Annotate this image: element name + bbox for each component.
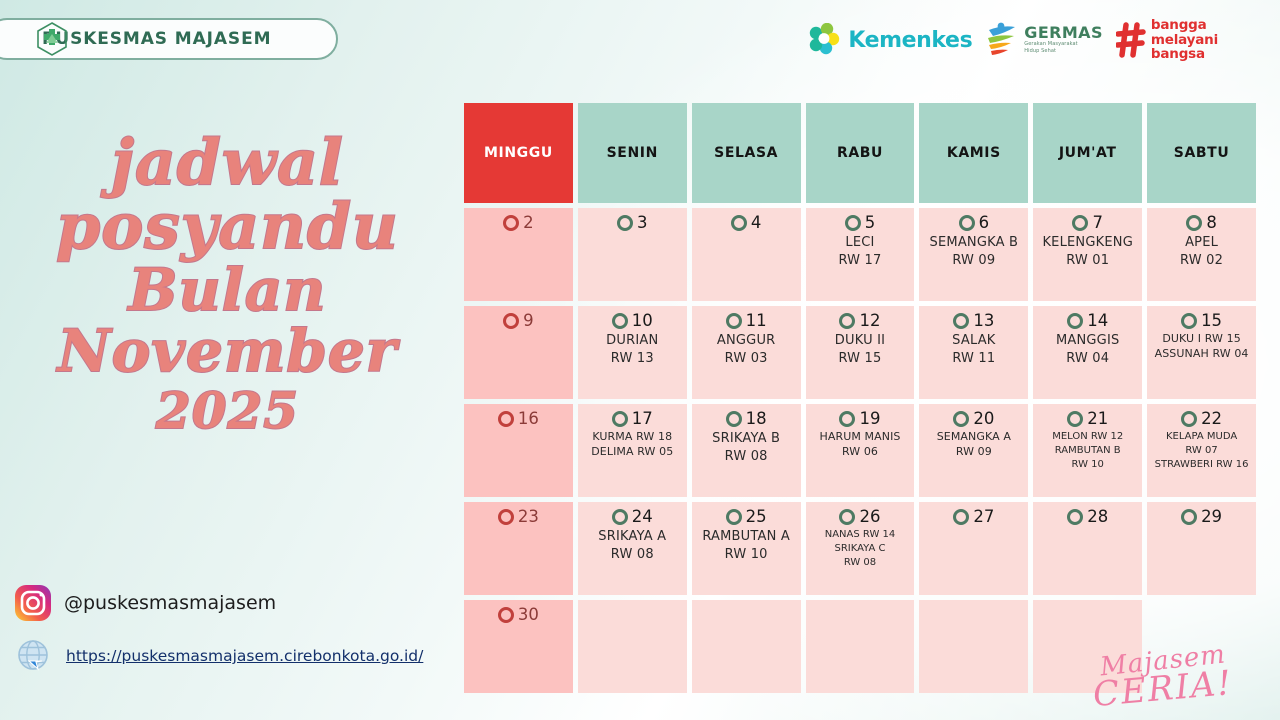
event-list: DUKU I RW 15ASSUNAH RW 04 — [1153, 332, 1250, 362]
day-number-row: 24 — [584, 509, 681, 526]
calendar-day-16[interactable]: 16 — [464, 404, 573, 497]
germas-title: GERMAS — [1024, 25, 1103, 41]
day-number-row: 21 — [1039, 411, 1136, 428]
event-line: SEMANGKA A — [937, 430, 1011, 445]
day-marker-ring-icon — [845, 215, 861, 231]
day-number-row: 2 — [470, 215, 567, 232]
bangga-line-2: melayani — [1151, 33, 1218, 48]
calendar-day-24[interactable]: 24SRIKAYA ARW 08 — [578, 502, 687, 595]
event-line: RW 01 — [1066, 252, 1109, 269]
day-number: 26 — [859, 509, 880, 526]
event-line: RW 07 — [1185, 444, 1217, 457]
day-number-row: 29 — [1153, 509, 1250, 526]
event-list: APELRW 02 — [1153, 234, 1250, 269]
title-line-5: 2025 — [0, 385, 455, 436]
day-number: 2 — [523, 215, 534, 232]
day-number-row: 7 — [1039, 215, 1136, 232]
event-line: RAMBUTAN B — [1055, 444, 1121, 457]
event-list: HARUM MANISRW 06 — [812, 430, 909, 460]
germas-subtitle-1: Gerakan Masyarakat — [1024, 41, 1103, 48]
instagram-handle[interactable]: @puskesmasmajasem — [64, 592, 276, 614]
calendar-day-12[interactable]: 12DUKU IIRW 15 — [806, 306, 915, 399]
calendar-day-14[interactable]: 14MANGGISRW 04 — [1033, 306, 1142, 399]
website-row[interactable]: https://puskesmasmajasem.cirebonkota.go.… — [14, 636, 464, 676]
event-list: DUKU IIRW 15 — [812, 332, 909, 367]
brand-name: PUSKESMAS MAJASEM — [42, 29, 271, 49]
day-number: 11 — [746, 313, 767, 330]
event-line: LECI — [845, 234, 874, 251]
day-number-row: 3 — [584, 215, 681, 232]
calendar-day-empty — [806, 600, 915, 693]
day-number: 10 — [632, 313, 653, 330]
event-list: SALAKRW 11 — [925, 332, 1022, 367]
calendar-day-30[interactable]: 30 — [464, 600, 573, 693]
bangga-text: bangga melayani bangsa — [1151, 18, 1218, 63]
calendar-day-empty — [692, 600, 801, 693]
day-marker-ring-icon — [726, 313, 742, 329]
day-marker-ring-icon — [839, 411, 855, 427]
event-line: DELIMA RW 05 — [591, 445, 673, 460]
day-number-row: 15 — [1153, 313, 1250, 330]
calendar-day-10[interactable]: 10DURIANRW 13 — [578, 306, 687, 399]
calendar-day-4[interactable]: 4 — [692, 208, 801, 301]
day-number: 3 — [637, 215, 648, 232]
event-line: ASSUNAH RW 04 — [1155, 347, 1249, 362]
day-number: 6 — [979, 215, 990, 232]
calendar-day-27[interactable]: 27 — [919, 502, 1028, 595]
contact-block: @puskesmasmajasem https://puskesmasmajas… — [14, 584, 464, 690]
day-number: 8 — [1206, 215, 1217, 232]
website-url[interactable]: https://puskesmasmajasem.cirebonkota.go.… — [66, 647, 423, 665]
day-number: 13 — [973, 313, 994, 330]
day-marker-ring-icon — [1181, 411, 1197, 427]
day-number-row: 4 — [698, 215, 795, 232]
day-number: 14 — [1087, 313, 1108, 330]
day-marker-ring-icon — [498, 607, 514, 623]
event-line: RW 02 — [1180, 252, 1223, 269]
calendar-header-selasa: SELASA — [692, 103, 801, 203]
instagram-icon[interactable] — [14, 584, 52, 622]
calendar-day-15[interactable]: 15DUKU I RW 15ASSUNAH RW 04 — [1147, 306, 1256, 399]
calendar-day-28[interactable]: 28 — [1033, 502, 1142, 595]
calendar-day-5[interactable]: 5LECIRW 17 — [806, 208, 915, 301]
calendar-day-26[interactable]: 26NANAS RW 14SRIKAYA CRW 08 — [806, 502, 915, 595]
event-line: DURIAN — [606, 332, 658, 349]
event-line: ANGGUR — [717, 332, 776, 349]
calendar-day-8[interactable]: 8APELRW 02 — [1147, 208, 1256, 301]
calendar-day-2[interactable]: 2 — [464, 208, 573, 301]
day-number-row: 17 — [584, 411, 681, 428]
day-number: 19 — [859, 411, 880, 428]
day-number-row: 11 — [698, 313, 795, 330]
day-marker-ring-icon — [498, 509, 514, 525]
top-bar: PUSKESMAS MAJASEM Kemenkes G — [0, 0, 1280, 86]
day-marker-ring-icon — [953, 509, 969, 525]
day-number-row: 28 — [1039, 509, 1136, 526]
title-line-4: November — [0, 322, 455, 381]
event-line: RW 06 — [842, 445, 878, 460]
day-number-row: 30 — [470, 607, 567, 624]
day-marker-ring-icon — [726, 411, 742, 427]
event-line: RW 08 — [725, 448, 768, 465]
day-marker-ring-icon — [1072, 215, 1088, 231]
germas-logo-icon — [985, 21, 1019, 59]
event-line: KELENGKENG — [1042, 234, 1133, 251]
event-line: RW 11 — [952, 350, 995, 367]
calendar-day-18[interactable]: 18SRIKAYA BRW 08 — [692, 404, 801, 497]
day-number: 15 — [1201, 313, 1222, 330]
globe-icon[interactable] — [14, 636, 54, 676]
calendar-day-23[interactable]: 23 — [464, 502, 573, 595]
day-number-row: 26 — [812, 509, 909, 526]
day-marker-ring-icon — [612, 313, 628, 329]
event-list: RAMBUTAN ARW 10 — [698, 528, 795, 563]
calendar-day-3[interactable]: 3 — [578, 208, 687, 301]
instagram-row[interactable]: @puskesmasmajasem — [14, 584, 464, 622]
event-line: KELAPA MUDA — [1166, 430, 1237, 443]
germas-text: GERMAS Gerakan Masyarakat Hidup Sehat — [1024, 25, 1103, 55]
calendar-day-22[interactable]: 22KELAPA MUDARW 07STRAWBERI RW 16 — [1147, 404, 1256, 497]
germas-logo: GERMAS Gerakan Masyarakat Hidup Sehat — [985, 18, 1103, 62]
calendar-header-minggu: MINGGU — [464, 103, 573, 203]
calendar-day-7[interactable]: 7KELENGKENGRW 01 — [1033, 208, 1142, 301]
bangga-melayani-bangsa-logo: bangga melayani bangsa — [1116, 18, 1218, 62]
day-number: 9 — [523, 313, 534, 330]
event-line: RAMBUTAN A — [702, 528, 790, 545]
day-marker-ring-icon — [1067, 509, 1083, 525]
event-list: LECIRW 17 — [812, 234, 909, 269]
kemenkes-logo-icon — [807, 23, 843, 57]
day-number-row: 10 — [584, 313, 681, 330]
calendar-day-9[interactable]: 9 — [464, 306, 573, 399]
brand-pill: PUSKESMAS MAJASEM — [0, 18, 338, 60]
day-marker-ring-icon — [1067, 313, 1083, 329]
kemenkes-label: Kemenkes — [848, 28, 972, 53]
event-line: DUKU I RW 15 — [1162, 332, 1241, 347]
day-marker-ring-icon — [498, 411, 514, 427]
day-number: 23 — [518, 509, 539, 526]
calendar-header-senin: SENIN — [578, 103, 687, 203]
day-marker-ring-icon — [503, 215, 519, 231]
bangga-line-1: bangga — [1151, 18, 1218, 33]
day-number: 12 — [859, 313, 880, 330]
event-line: SRIKAYA B — [712, 430, 780, 447]
day-marker-ring-icon — [1181, 313, 1197, 329]
kemenkes-logo: Kemenkes — [807, 18, 972, 62]
event-line: RW 08 — [611, 546, 654, 563]
event-line: NANAS RW 14 — [825, 528, 896, 541]
calendar-header-jumat: JUM'AT — [1033, 103, 1142, 203]
event-list: MELON RW 12RAMBUTAN BRW 10 — [1039, 430, 1136, 472]
day-number-row: 20 — [925, 411, 1022, 428]
day-number-row: 25 — [698, 509, 795, 526]
day-number-row: 23 — [470, 509, 567, 526]
event-list: KELENGKENGRW 01 — [1039, 234, 1136, 269]
calendar-header-rabu: RABU — [806, 103, 915, 203]
day-number: 24 — [632, 509, 653, 526]
day-number-row: 27 — [925, 509, 1022, 526]
day-number-row: 5 — [812, 215, 909, 232]
day-marker-ring-icon — [839, 509, 855, 525]
day-number: 29 — [1201, 509, 1222, 526]
calendar-day-19[interactable]: 19HARUM MANISRW 06 — [806, 404, 915, 497]
event-list: KELAPA MUDARW 07STRAWBERI RW 16 — [1153, 430, 1250, 472]
event-line: SRIKAYA A — [598, 528, 666, 545]
day-number-row: 18 — [698, 411, 795, 428]
day-number: 28 — [1087, 509, 1108, 526]
day-marker-ring-icon — [612, 509, 628, 525]
day-number-row: 9 — [470, 313, 567, 330]
day-number: 18 — [746, 411, 767, 428]
day-marker-ring-icon — [953, 411, 969, 427]
event-line: RW 17 — [838, 252, 881, 269]
title-line-3: Bulan — [0, 261, 455, 320]
event-list: ANGGURRW 03 — [698, 332, 795, 367]
event-line: RW 09 — [952, 252, 995, 269]
day-number-row: 8 — [1153, 215, 1250, 232]
event-list: DURIANRW 13 — [584, 332, 681, 367]
title-line-1: jadwal — [0, 130, 455, 194]
calendar-day-29[interactable]: 29 — [1147, 502, 1256, 595]
day-marker-ring-icon — [953, 313, 969, 329]
calendar-day-6[interactable]: 6SEMANGKA BRW 09 — [919, 208, 1028, 301]
day-number: 21 — [1087, 411, 1108, 428]
event-line: SEMANGKA B — [930, 234, 1019, 251]
event-list: MANGGISRW 04 — [1039, 332, 1136, 367]
day-number-row: 16 — [470, 411, 567, 428]
day-marker-ring-icon — [617, 215, 633, 231]
day-marker-ring-icon — [731, 215, 747, 231]
event-line: RW 15 — [838, 350, 881, 367]
event-line: MANGGIS — [1056, 332, 1119, 349]
calendar-day-21[interactable]: 21MELON RW 12RAMBUTAN BRW 10 — [1033, 404, 1142, 497]
calendar-day-13[interactable]: 13SALAKRW 11 — [919, 306, 1028, 399]
bangga-line-3: bangsa — [1151, 47, 1218, 62]
event-line: MELON RW 12 — [1052, 430, 1123, 443]
day-number: 4 — [751, 215, 762, 232]
event-list: SEMANGKA ARW 09 — [925, 430, 1022, 460]
event-line: RW 09 — [956, 445, 992, 460]
hashtag-icon — [1116, 22, 1146, 58]
calendar-day-20[interactable]: 20SEMANGKA ARW 09 — [919, 404, 1028, 497]
event-line: KURMA RW 18 — [592, 430, 672, 445]
calendar-day-25[interactable]: 25RAMBUTAN ARW 10 — [692, 502, 801, 595]
day-marker-ring-icon — [1067, 411, 1083, 427]
event-list: SRIKAYA ARW 08 — [584, 528, 681, 563]
event-line: APEL — [1185, 234, 1218, 251]
title-line-2: posyandu — [0, 194, 455, 258]
day-number: 25 — [746, 509, 767, 526]
calendar-header-sabtu: SABTU — [1147, 103, 1256, 203]
event-line: HARUM MANIS — [819, 430, 900, 445]
day-marker-ring-icon — [959, 215, 975, 231]
calendar-day-empty — [578, 600, 687, 693]
calendar-header-kamis: KAMIS — [919, 103, 1028, 203]
event-line: RW 03 — [725, 350, 768, 367]
calendar-grid: MINGGUSENINSELASARABUKAMISJUM'ATSABTU234… — [464, 103, 1256, 693]
day-number: 22 — [1201, 411, 1222, 428]
calendar-day-11[interactable]: 11ANGGURRW 03 — [692, 306, 801, 399]
day-number: 7 — [1092, 215, 1103, 232]
day-number: 30 — [518, 607, 539, 624]
day-number-row: 14 — [1039, 313, 1136, 330]
event-line: STRAWBERI RW 16 — [1155, 458, 1249, 471]
day-number-row: 13 — [925, 313, 1022, 330]
page-title: jadwal posyandu Bulan November 2025 — [0, 130, 455, 436]
event-list: SRIKAYA BRW 08 — [698, 430, 795, 465]
day-number: 27 — [973, 509, 994, 526]
day-marker-ring-icon — [503, 313, 519, 329]
day-number: 5 — [865, 215, 876, 232]
event-line: DUKU II — [835, 332, 885, 349]
day-marker-ring-icon — [1186, 215, 1202, 231]
germas-subtitle-2: Hidup Sehat — [1024, 48, 1103, 55]
partner-logos: Kemenkes GERMAS Gerakan Masyarakat Hidup… — [807, 17, 1218, 63]
medical-cross-hexagon-icon — [36, 22, 68, 56]
event-list: KURMA RW 18DELIMA RW 05 — [584, 430, 681, 460]
calendar-day-17[interactable]: 17KURMA RW 18DELIMA RW 05 — [578, 404, 687, 497]
event-list: NANAS RW 14SRIKAYA CRW 08 — [812, 528, 909, 570]
event-line: RW 10 — [1072, 458, 1104, 471]
event-line: SALAK — [952, 332, 995, 349]
day-number-row: 12 — [812, 313, 909, 330]
event-list: SEMANGKA BRW 09 — [925, 234, 1022, 269]
day-marker-ring-icon — [726, 509, 742, 525]
event-line: SRIKAYA C — [834, 542, 885, 555]
calendar-day-empty — [919, 600, 1028, 693]
day-marker-ring-icon — [839, 313, 855, 329]
event-line: RW 08 — [844, 556, 876, 569]
day-number: 16 — [518, 411, 539, 428]
event-line: RW 10 — [725, 546, 768, 563]
day-marker-ring-icon — [1181, 509, 1197, 525]
signature-block: Majasem CERIA! — [1068, 648, 1258, 706]
day-marker-ring-icon — [612, 411, 628, 427]
event-line: RW 13 — [611, 350, 654, 367]
day-number-row: 6 — [925, 215, 1022, 232]
day-number-row: 22 — [1153, 411, 1250, 428]
event-line: RW 04 — [1066, 350, 1109, 367]
day-number: 17 — [632, 411, 653, 428]
day-number-row: 19 — [812, 411, 909, 428]
day-number: 20 — [973, 411, 994, 428]
